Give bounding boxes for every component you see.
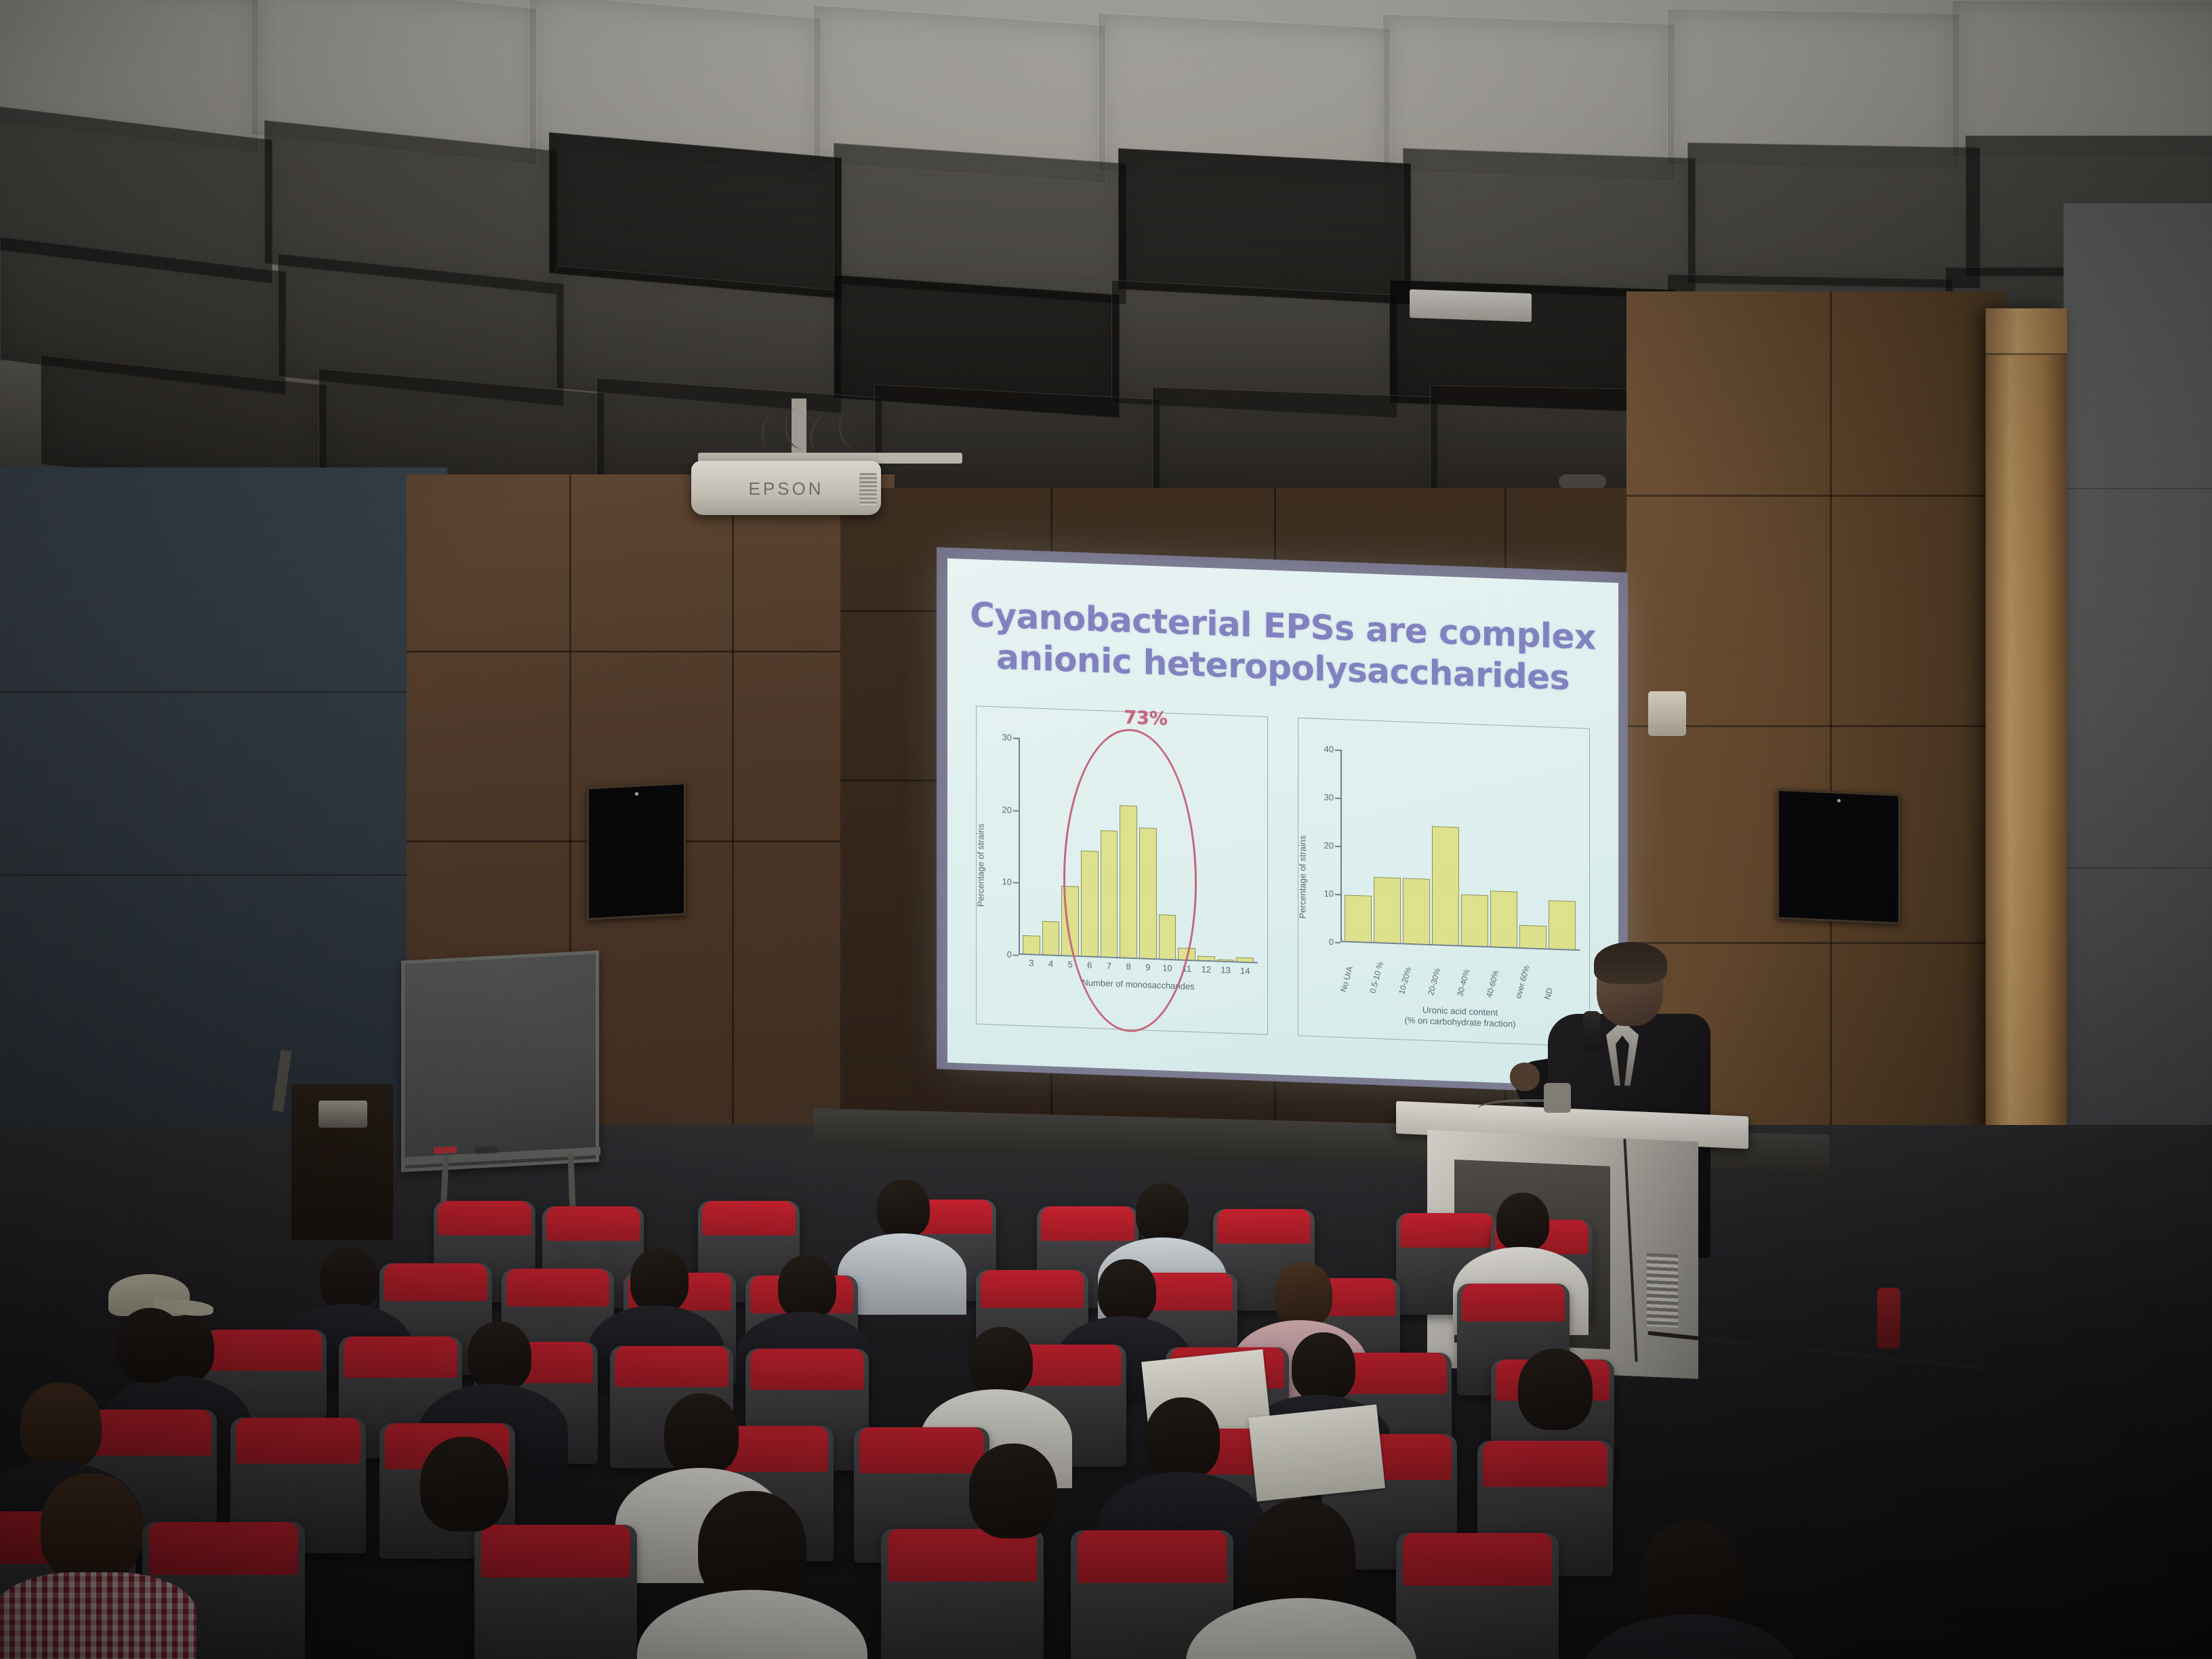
projection-screen: Cyanobacterial EPSs are complex anionic … xyxy=(947,558,1618,1087)
chart-y-tick xyxy=(1335,894,1340,895)
audience-head xyxy=(1640,1521,1742,1629)
wall-speaker-panel-right xyxy=(1777,789,1900,924)
chart-right-y-axis xyxy=(1340,750,1342,942)
ceiling-smoke-detector xyxy=(1559,474,1606,489)
whiteboard-marker[interactable] xyxy=(434,1146,457,1154)
slide-charts: Percentage of strains 0102030 3456789101… xyxy=(976,705,1590,1046)
audience-head xyxy=(41,1473,142,1582)
chart-bar xyxy=(1549,900,1576,949)
audience-checkered-shirt xyxy=(0,1572,197,1659)
chart-monosaccharides: Percentage of strains 0102030 3456789101… xyxy=(976,705,1268,1035)
equipment-box xyxy=(319,1101,367,1128)
seat[interactable] xyxy=(1396,1533,1559,1659)
chart-bar xyxy=(1345,895,1372,941)
chart-bar xyxy=(1081,851,1099,956)
wood-column-capital xyxy=(1986,308,2067,355)
chart-x-tick-label: 5 xyxy=(1061,959,1079,970)
chart-y-tick-label: 40 xyxy=(1324,744,1334,755)
chart-y-tick xyxy=(1013,737,1019,739)
microphone-base xyxy=(1544,1083,1571,1113)
chart-y-tick-label: 30 xyxy=(1002,732,1012,743)
chart-x-tick-label: 9 xyxy=(1139,962,1157,972)
chart-x-tick-label: 13 xyxy=(1217,964,1235,975)
whiteboard-marker[interactable] xyxy=(474,1146,497,1154)
chart-x-tick-label: 10 xyxy=(1159,962,1176,973)
wall-speaker-panel-left xyxy=(587,782,686,920)
chart-y-tick-label: 10 xyxy=(1324,888,1334,899)
chart-y-tick-label: 30 xyxy=(1324,792,1334,803)
handout-paper[interactable] xyxy=(1248,1404,1385,1501)
chart-bar xyxy=(1023,935,1040,954)
projector-vent xyxy=(859,473,877,506)
chart-uronic-acid: Percentage of strains 010203040 No UrA0.… xyxy=(1298,718,1590,1047)
handheld-microphone[interactable] xyxy=(1583,1011,1601,1052)
chart-x-tick-label: 14 xyxy=(1236,965,1254,976)
chart-y-tick xyxy=(1013,810,1019,811)
chart-left-y-axis xyxy=(1019,738,1020,955)
chart-y-tick xyxy=(1013,882,1019,884)
ceiling-light-fixture xyxy=(1410,289,1532,322)
slide-title: Cyanobacterial EPSs are complex anionic … xyxy=(947,594,1618,701)
audience-head xyxy=(664,1393,739,1475)
chart-x-tick-label: 6 xyxy=(1081,960,1099,970)
audience-head xyxy=(1247,1499,1355,1613)
chart-y-tick xyxy=(1335,798,1340,799)
audience-head xyxy=(1098,1259,1156,1323)
chart-bar xyxy=(1042,921,1060,955)
left-wall xyxy=(0,468,447,1145)
audience-head xyxy=(877,1179,930,1237)
chart-y-tick xyxy=(1335,750,1340,751)
audience-head-with-cap xyxy=(117,1308,184,1382)
chart-bar xyxy=(1139,827,1157,958)
chart-y-tick xyxy=(1335,846,1340,847)
chart-bar xyxy=(1374,877,1401,943)
chart-bar xyxy=(1236,957,1254,962)
chart-left-bars xyxy=(1023,738,1254,962)
audience-head xyxy=(1145,1397,1220,1479)
audience-head xyxy=(1518,1349,1593,1430)
chart-left-x-title: Number of monosaccharides xyxy=(1019,975,1258,995)
chart-right-x-title: Uronic acid content (% on carbohydrate f… xyxy=(1340,1002,1580,1032)
chart-bar xyxy=(1490,890,1517,947)
chart-x-tick-label: 3 xyxy=(1023,958,1040,968)
chart-bar xyxy=(1061,886,1079,956)
chart-x-tick-label: 7 xyxy=(1101,960,1118,971)
chart-right-bars xyxy=(1345,750,1576,949)
chart-y-tick xyxy=(1013,954,1019,956)
chart-y-tick-label: 10 xyxy=(1002,877,1012,888)
chart-x-tick-label: 8 xyxy=(1120,961,1137,972)
audience-head xyxy=(778,1255,836,1319)
chart-bar xyxy=(1461,895,1488,946)
chart-x-tick-label: 4 xyxy=(1042,958,1060,969)
chart-x-tick-label: 12 xyxy=(1197,964,1215,975)
chart-left-plot-area: 0102030 34567891011121314 Number of mono… xyxy=(1019,738,1258,964)
projector-brand-label: EPSON xyxy=(691,478,881,499)
audience-head xyxy=(20,1382,102,1469)
chart-bar xyxy=(1519,925,1547,948)
chart-right-x-labels: No UrA0.5-10 %10-20%20-30%30-40%40-60%ov… xyxy=(1345,945,1576,1004)
audience-head xyxy=(698,1491,806,1605)
presenter-hand xyxy=(1510,1063,1540,1091)
chart-right-y-title: Percentage of strains xyxy=(1298,835,1308,918)
fire-extinguisher xyxy=(1877,1288,1900,1349)
seat[interactable] xyxy=(881,1529,1044,1659)
audience-head xyxy=(1136,1183,1189,1242)
chart-bar xyxy=(1403,878,1430,944)
lecture-hall-photo: EPSON Cyanobacterial EPSs are complex an… xyxy=(0,0,2212,1659)
audience-head xyxy=(1274,1262,1332,1327)
chart-bar xyxy=(1101,830,1118,957)
chart-y-tick xyxy=(1335,942,1340,943)
chart-bar xyxy=(1120,806,1137,958)
podium-vent-grille xyxy=(1647,1253,1678,1328)
projector: EPSON xyxy=(691,461,881,515)
chart-left-y-title: Percentage of strains xyxy=(976,823,986,907)
chart-y-tick-label: 20 xyxy=(1002,804,1012,815)
whiteboard xyxy=(401,950,599,1172)
presenter-hair xyxy=(1594,942,1667,984)
chart-bar xyxy=(1432,826,1459,945)
audience-head xyxy=(1496,1193,1549,1251)
audience-head xyxy=(1292,1332,1355,1401)
audience-head xyxy=(420,1437,508,1532)
audience-head xyxy=(969,1443,1057,1538)
chart-bar xyxy=(1197,956,1215,960)
chart-bar xyxy=(1159,915,1176,960)
audience-head xyxy=(468,1322,531,1391)
chart-left-percent-callout: 73% xyxy=(1124,707,1168,729)
audience-head xyxy=(969,1327,1033,1396)
audience-head xyxy=(320,1247,378,1311)
wall-control-panel[interactable] xyxy=(1648,691,1686,736)
chart-y-tick-label: 0 xyxy=(1329,937,1334,947)
chart-bar xyxy=(1178,947,1195,960)
chart-x-tick-label: 11 xyxy=(1178,963,1195,974)
chart-right-plot-area: 010203040 No UrA0.5-10 %10-20%20-30%30-4… xyxy=(1340,750,1580,951)
audience-head xyxy=(630,1248,689,1312)
chart-y-tick-label: 0 xyxy=(1007,949,1012,960)
seat[interactable] xyxy=(474,1525,637,1659)
chart-y-tick-label: 20 xyxy=(1324,840,1334,851)
